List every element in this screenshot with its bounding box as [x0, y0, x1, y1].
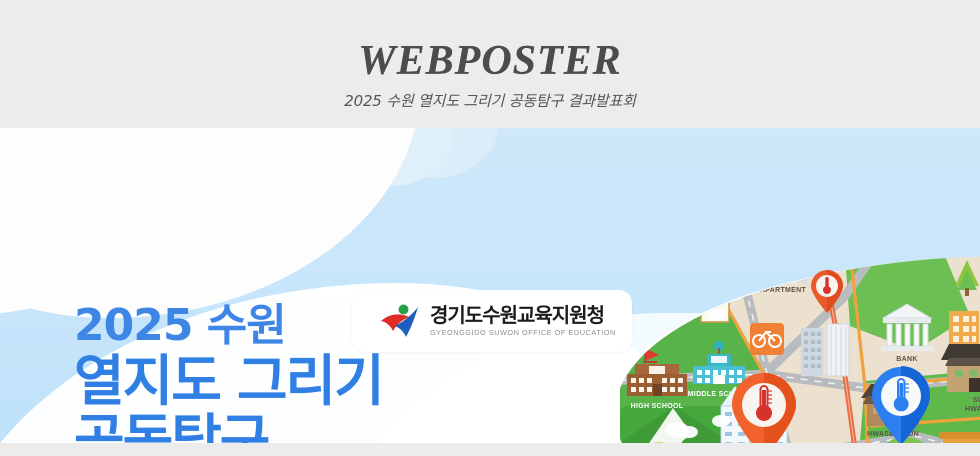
webposter-page: WEBPOSTER 2025 수원 열지도 그리기 공동탐구 결과발표회 202…: [0, 0, 980, 456]
running-figure-logo-mark-icon: [380, 304, 420, 338]
map-label-apartment: APARTMENT: [760, 287, 807, 294]
library-building-icon: [939, 432, 980, 443]
title-line-2: 열지도 그리기: [74, 354, 383, 409]
map-label-hwaseong: HWASEONG: [965, 406, 980, 413]
map-label-bank: BANK: [896, 356, 917, 363]
hero-banner: 2025 수원 열지도 그리기 공동탐구 결과발표회 경기도수원교육지원청 GY…: [0, 128, 980, 443]
map-label-suwon: SUWON: [973, 397, 980, 404]
page-title: WEBPOSTER: [358, 40, 621, 82]
organization-logo-text: 경기도수원교육지원청 GYEONGGIDO SUWON OFFICE OF ED…: [430, 305, 616, 336]
temperature-pin-orange-large-icon[interactable]: [730, 373, 798, 443]
title-line-3: 공동탐구: [74, 413, 383, 443]
page-subtitle: 2025 수원 열지도 그리기 공동탐구 결과발표회: [344, 90, 635, 111]
temperature-pin-orange-small-icon[interactable]: [810, 270, 844, 314]
title-line-1: 2025 수원: [74, 304, 383, 348]
bicycle-sign-icon: [750, 323, 784, 355]
temperature-pin-blue-large-icon[interactable]: [870, 366, 932, 443]
banner-title-block: 2025 수원 열지도 그리기 공동탐구 결과발표회: [74, 304, 383, 443]
store-building-icon: [701, 296, 729, 322]
shop-building-icon: [665, 286, 695, 314]
organization-name-korean: 경기도수원교육지원청: [430, 305, 616, 325]
map-label-high-school: HIGH SCHOOL: [631, 403, 684, 410]
page-header: WEBPOSTER 2025 수원 열지도 그리기 공동탐구 결과발표회: [0, 0, 980, 128]
organization-name-english: GYEONGGIDO SUWON OFFICE OF EDUCATION: [430, 329, 616, 336]
illustrated-map: APARTMENT: [620, 256, 980, 443]
cloud-outline-icon: [383, 428, 548, 443]
organization-logo-card: 경기도수원교육지원청 GYEONGGIDO SUWON OFFICE OF ED…: [352, 290, 632, 352]
